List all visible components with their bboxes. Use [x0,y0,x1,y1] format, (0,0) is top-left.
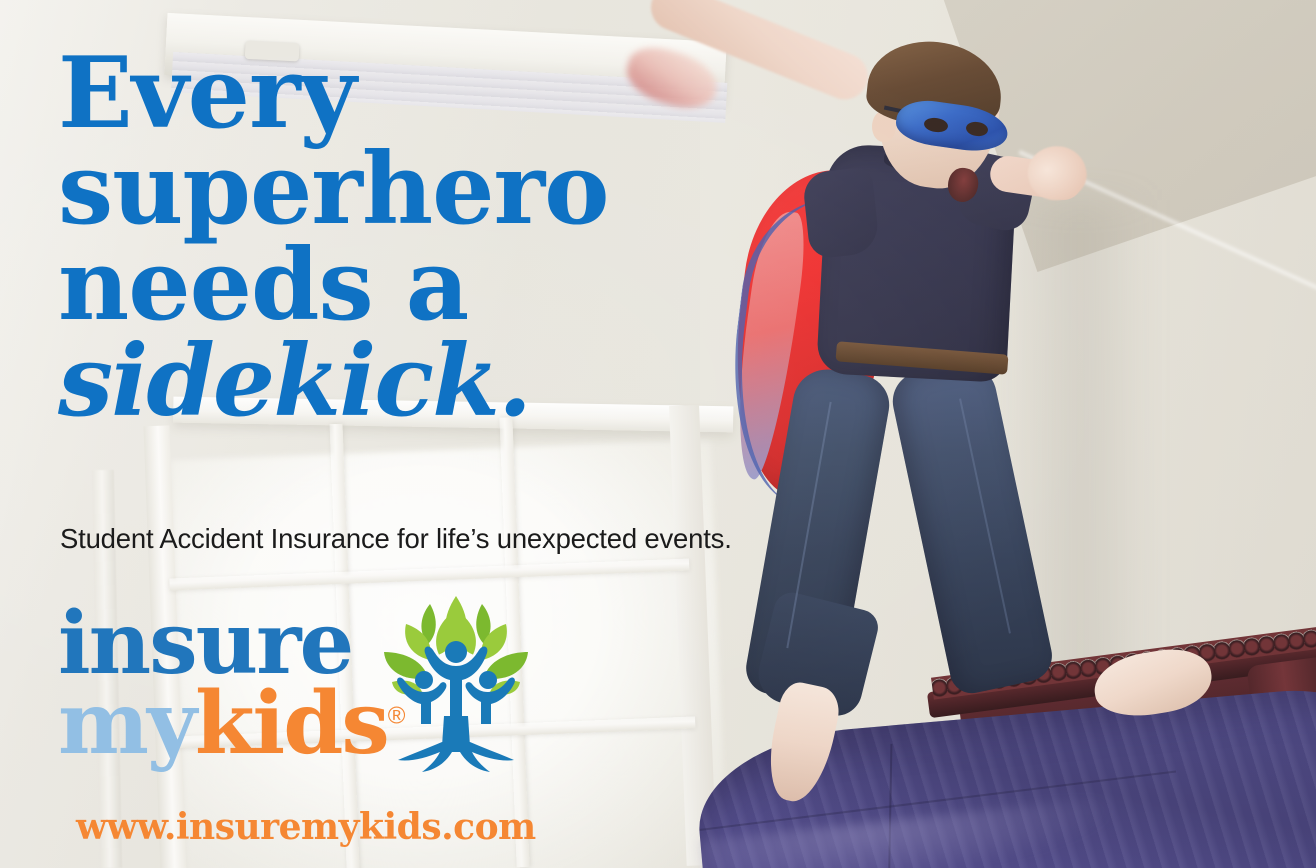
logo-text-kids: kids [195,673,388,774]
headline-line-4: sidekick. [58,334,698,430]
text-overlay: Every superhero needs a sidekick. Studen… [0,0,1316,868]
website-url[interactable]: www.insuremykids.com [76,806,536,848]
logo-text-insure: insure [58,604,352,683]
headline-line-3: needs a [58,238,698,334]
headline-line-2: superhero [58,142,698,238]
headline-line-1: Every [58,46,698,142]
logo-text-my: my [58,673,195,774]
headline: Every superhero needs a sidekick. [58,46,698,430]
subheadline: Student Accident Insurance for life’s un… [60,523,732,555]
tree-people-logo-icon [376,590,536,782]
advertisement-poster: Every superhero needs a sidekick. Studen… [0,0,1316,868]
logo-text-line-2: mykids® [58,684,403,763]
brand-logo[interactable]: insure mykids® [58,604,518,784]
